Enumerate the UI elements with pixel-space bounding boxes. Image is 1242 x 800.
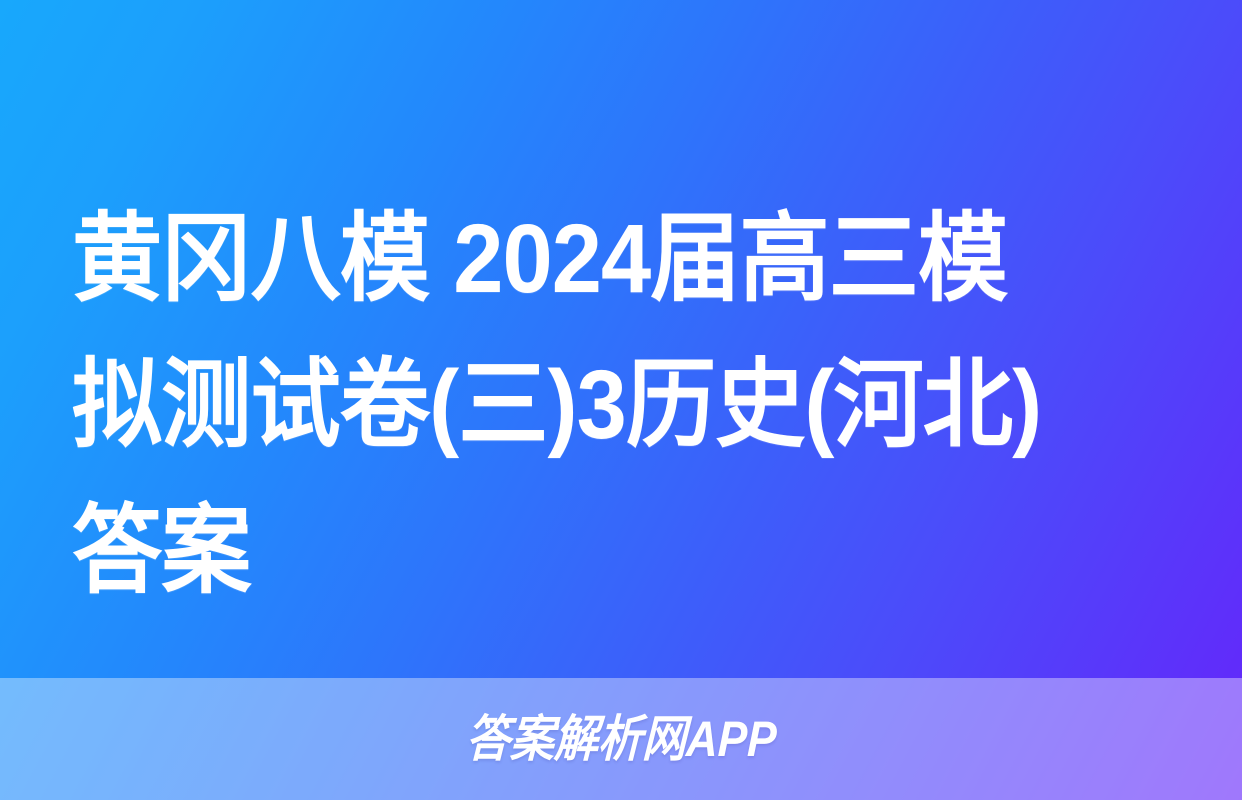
poster-canvas: 黄冈八模 2024届高三模拟测试卷(三)3历史(河北)答案 答案解析网APP bbox=[0, 0, 1242, 800]
watermark-label: 答案解析网APP bbox=[465, 714, 777, 764]
page-title: 黄冈八模 2024届高三模拟测试卷(三)3历史(河北)答案 bbox=[0, 186, 1242, 624]
watermark-band: 答案解析网APP bbox=[0, 678, 1242, 800]
title-text: 黄冈八模 2024届高三模拟测试卷(三)3历史(河北)答案 bbox=[72, 186, 1093, 624]
